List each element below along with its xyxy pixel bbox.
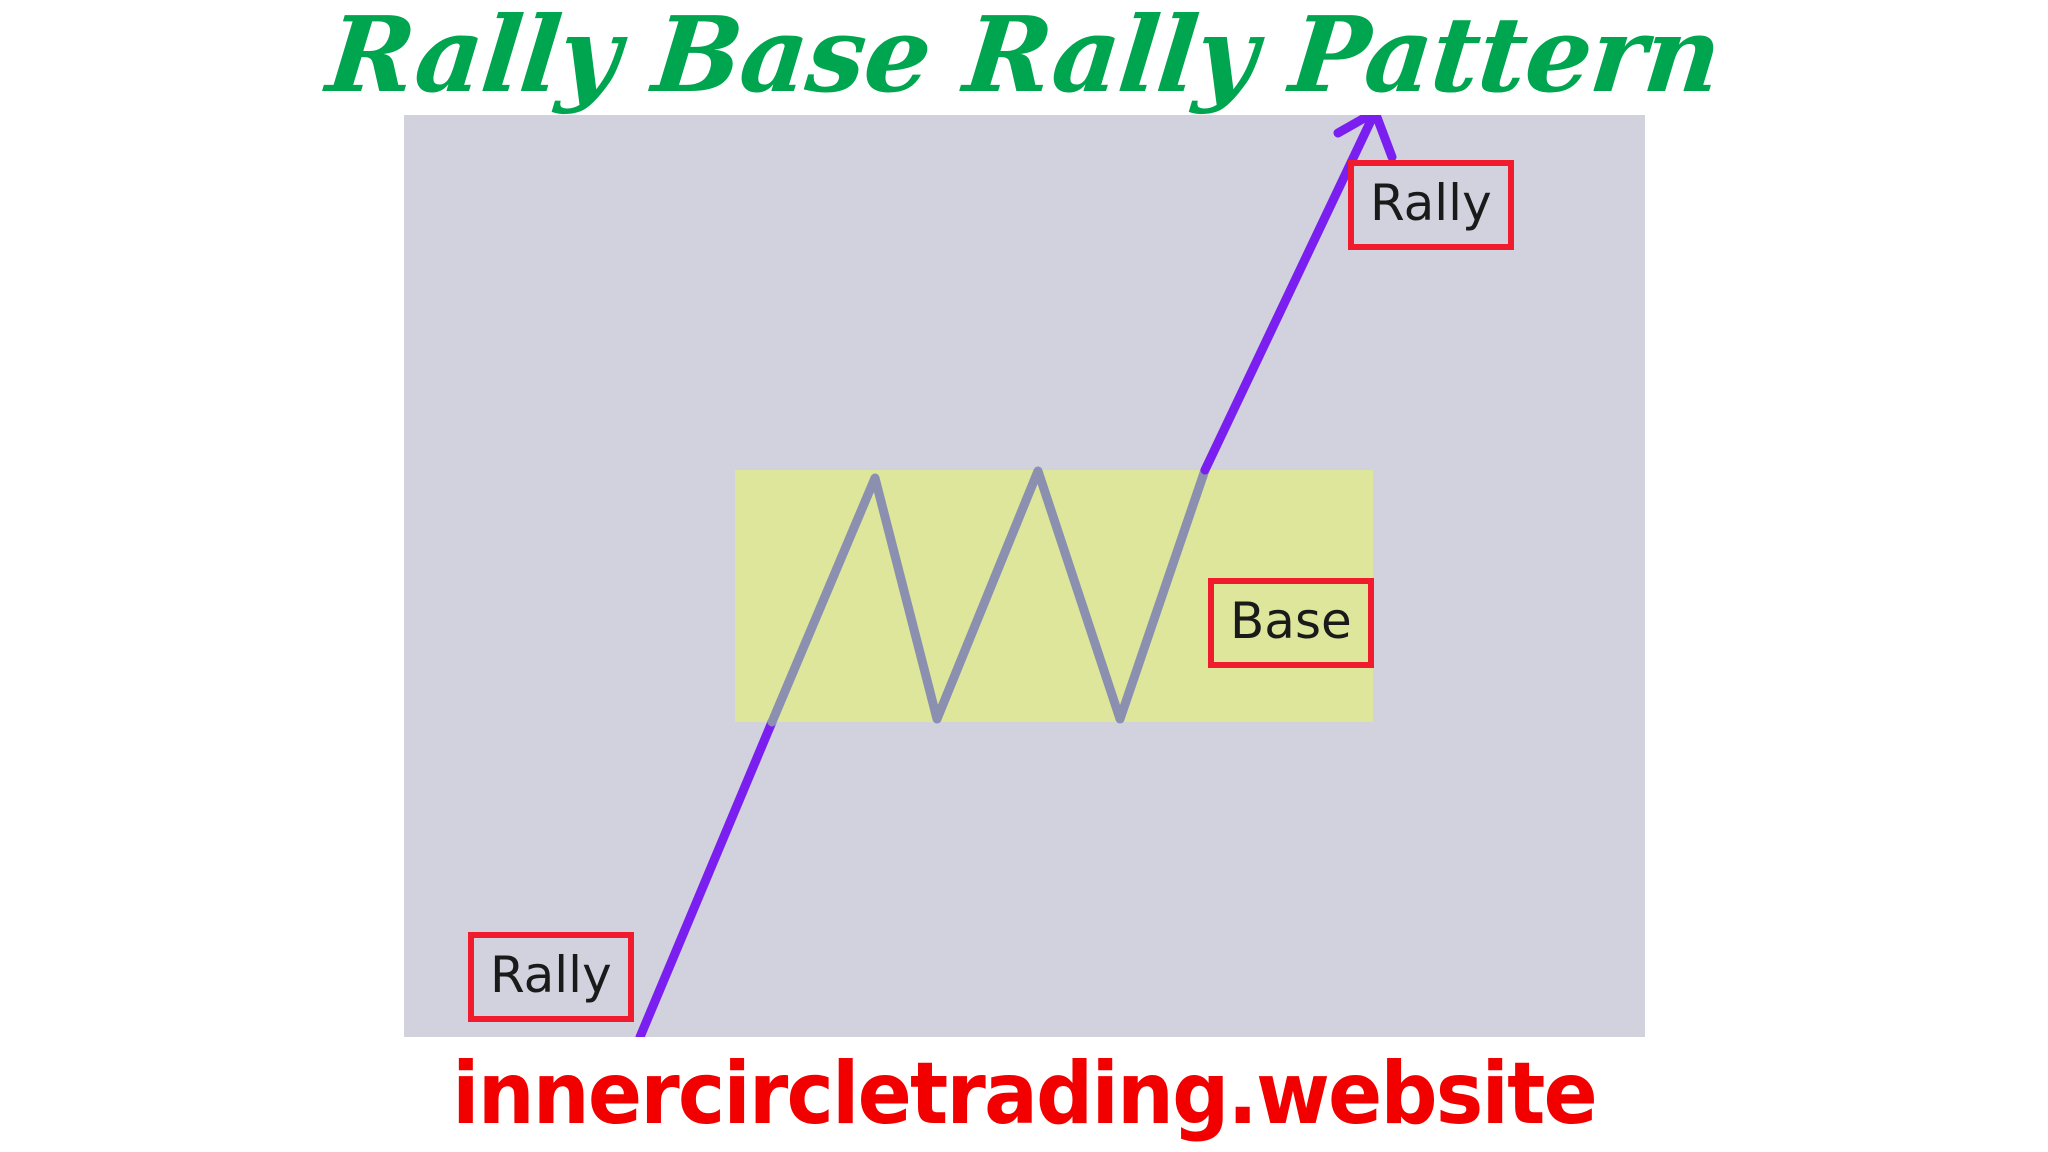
rally-leg-1-line: [640, 722, 772, 1037]
label-rally-top: Rally: [1348, 160, 1514, 250]
watermark-website: innercircletrading.website: [72, 1042, 1977, 1146]
page-title: Rally Base Rally Pattern: [0, 0, 2048, 114]
label-rally-bottom: Rally: [468, 932, 634, 1022]
base-zigzag-line: [772, 470, 1205, 722]
poster-canvas: Rally Base Rally Pattern Rally Base Rall…: [0, 0, 2048, 1152]
chart-panel: [404, 115, 1645, 1037]
label-base: Base: [1208, 578, 1374, 668]
price-action-chart: [404, 115, 1645, 1037]
